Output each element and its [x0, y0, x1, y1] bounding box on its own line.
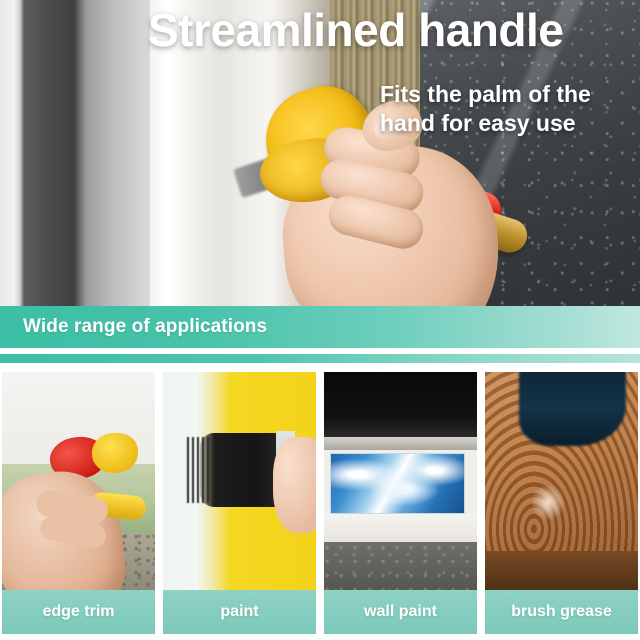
hero-subheadline: Fits the palm of the hand for easy use [380, 80, 640, 138]
application-caption-text: paint [220, 603, 258, 621]
photo-wood-gloss-highlight [531, 485, 565, 520]
banner-accent-bar [0, 354, 640, 363]
photo-yellow-brush-head [92, 433, 138, 473]
application-caption-paint: paint [163, 590, 316, 634]
product-feature-banner: Streamlined handle Fits the palm of the … [0, 0, 640, 640]
photo-blue-mural [330, 453, 465, 514]
application-photo-paint [163, 372, 316, 590]
application-caption-text: edge trim [42, 603, 114, 621]
application-caption-text: wall paint [364, 603, 437, 621]
application-caption-text: brush grease [511, 603, 611, 621]
applications-banner: Wide range of applications [0, 306, 640, 348]
photo-lower-wall [324, 514, 477, 542]
applications-banner-label: Wide range of applications [23, 316, 267, 338]
photo-dark-ceiling [324, 372, 477, 437]
application-photo-edge-trim [2, 372, 155, 590]
photo-hand [273, 437, 316, 533]
photo-wood-edge [485, 551, 638, 590]
application-caption-edge-trim: edge trim [2, 590, 155, 634]
application-photo-brush-grease [485, 372, 638, 590]
application-card-paint: paint [163, 372, 316, 640]
application-card-wall-paint: wall paint [324, 372, 477, 640]
photo-soffit [324, 437, 477, 450]
photo-floor [324, 542, 477, 590]
hero-subheadline-line-1: Fits the palm of the [380, 80, 640, 109]
photo-dark-blue-brush [519, 372, 626, 446]
hero-section: Streamlined handle Fits the palm of the … [0, 0, 640, 306]
banner-section: Wide range of applications [0, 306, 640, 370]
application-caption-wall-paint: wall paint [324, 590, 477, 634]
photo-black-bristles [200, 433, 280, 507]
applications-grid: edge trim paint wall paint [0, 372, 640, 640]
application-card-brush-grease: brush grease [485, 372, 638, 640]
hero-subheadline-line-2: hand for easy use [380, 109, 640, 138]
application-photo-wall-paint [324, 372, 477, 590]
application-card-edge-trim: edge trim [2, 372, 155, 640]
hero-headline: Streamlined handle [148, 6, 640, 56]
application-caption-brush-grease: brush grease [485, 590, 638, 634]
